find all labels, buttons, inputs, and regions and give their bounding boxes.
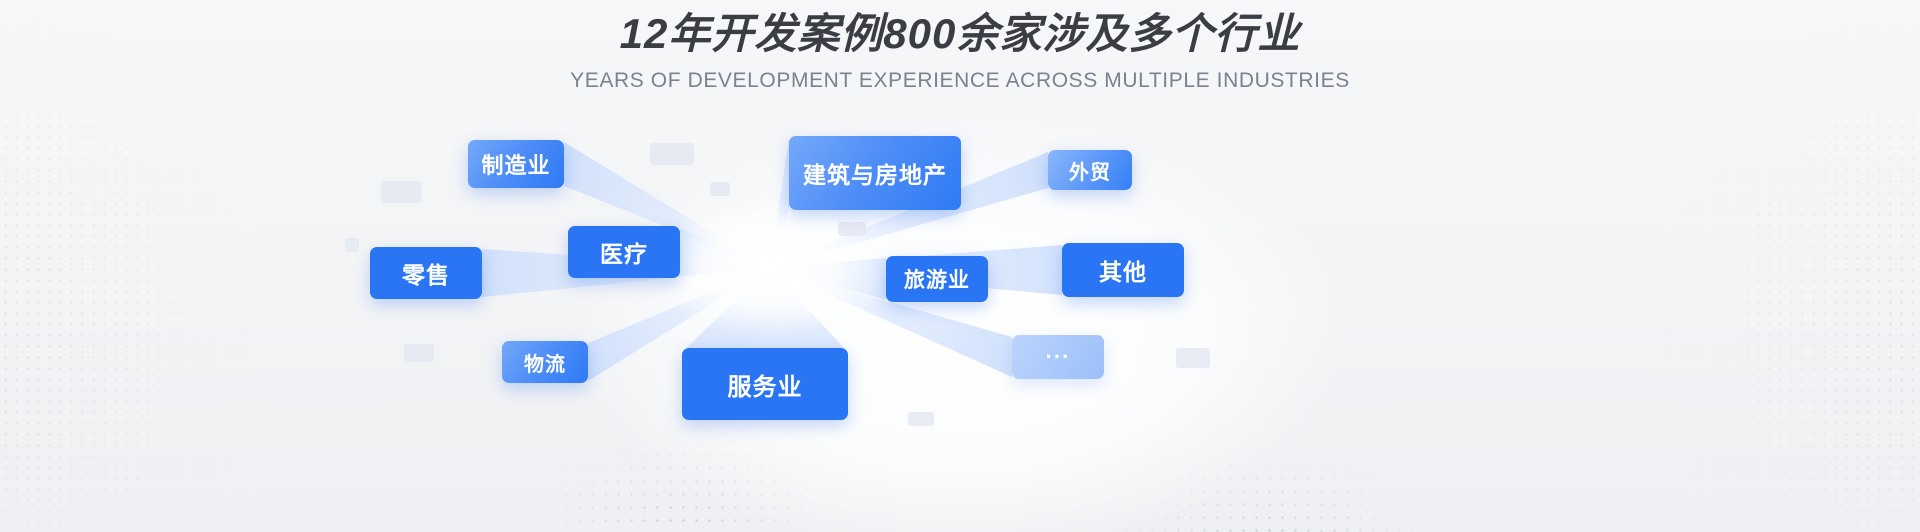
industry-tag-label: 外贸 [1069, 156, 1111, 185]
banner-header: 12年开发案例800余家涉及多个行业 YEARS OF DEVELOPMENT … [0, 8, 1920, 93]
ghost-chip [838, 222, 866, 236]
industry-tag-manufacturing[interactable]: 制造业 [468, 140, 564, 188]
industry-tag-retail[interactable]: 零售 [370, 247, 482, 299]
ghost-chip [345, 238, 359, 252]
industry-tag-other[interactable]: 其他 [1062, 243, 1184, 297]
ghost-chip [710, 182, 730, 196]
industry-tag-medical[interactable]: 医疗 [568, 226, 680, 278]
ghost-chip [404, 344, 434, 362]
industry-tag-label: 旅游业 [904, 264, 970, 294]
ghost-chip [650, 143, 694, 165]
industry-tag-foreign-trade[interactable]: 外贸 [1048, 150, 1132, 190]
industry-tag-label: 服务业 [728, 367, 803, 402]
page-subtitle: YEARS OF DEVELOPMENT EXPERIENCE ACROSS M… [0, 69, 1920, 93]
ghost-chip [908, 412, 934, 426]
ghost-chip [381, 181, 421, 203]
ghost-chip [1176, 348, 1210, 368]
center-glow [650, 198, 890, 338]
page-title: 12年开发案例800余家涉及多个行业 [0, 8, 1920, 59]
industry-tag-label: 物流 [524, 348, 566, 377]
industry-tag-label: 制造业 [481, 148, 550, 180]
industry-tag-label: ··· [1046, 344, 1071, 370]
industry-tag-logistics[interactable]: 物流 [502, 341, 588, 383]
industry-tag-more[interactable]: ··· [1012, 335, 1104, 379]
industry-tag-label: 医疗 [600, 235, 648, 269]
industry-tag-label: 建筑与房地产 [803, 156, 947, 190]
hero-banner: 12年开发案例800余家涉及多个行业 YEARS OF DEVELOPMENT … [0, 0, 1920, 532]
industry-tag-tourism[interactable]: 旅游业 [886, 256, 988, 302]
industry-tag-label: 其他 [1099, 253, 1147, 287]
industry-tag-label: 零售 [402, 256, 450, 290]
industry-tag-construction[interactable]: 建筑与房地产 [789, 136, 961, 210]
industry-tag-service[interactable]: 服务业 [682, 348, 848, 420]
